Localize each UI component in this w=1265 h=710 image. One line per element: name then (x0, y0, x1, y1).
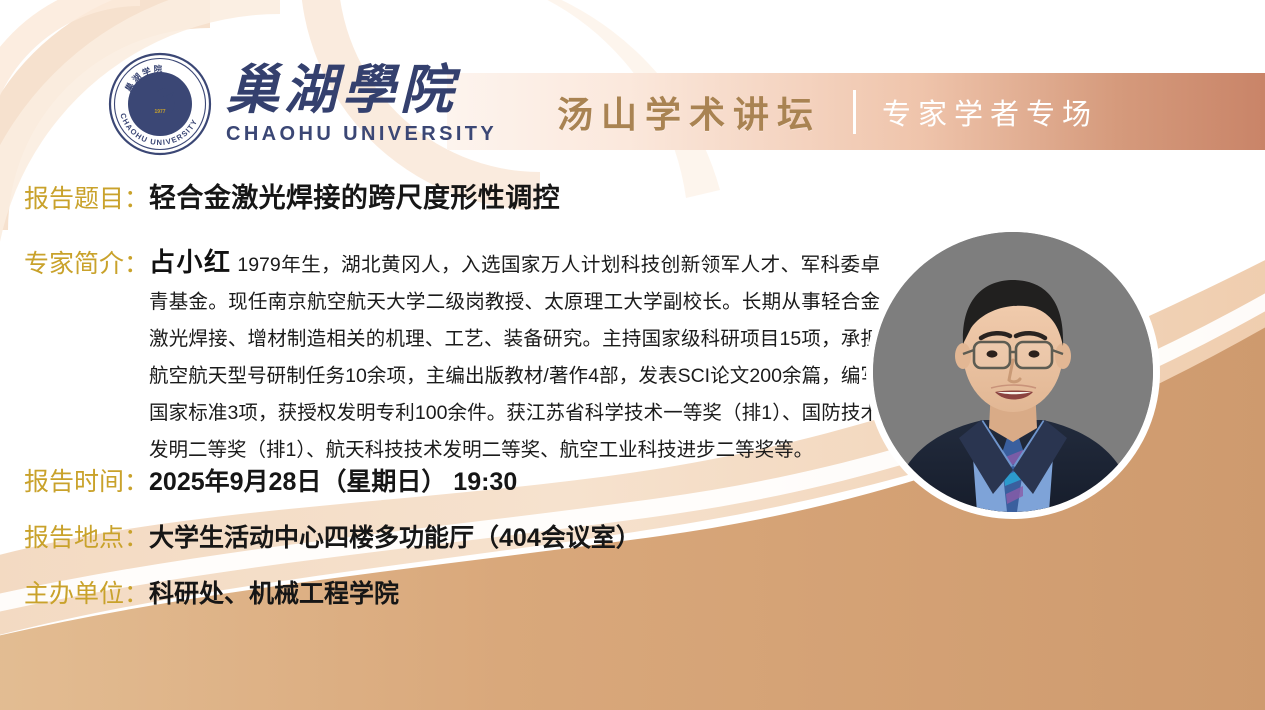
speaker-bio-label: 专家简介： (24, 244, 149, 280)
report-title-row: 报告题目： 轻合金激光焊接的跨尺度形性调控 (24, 176, 560, 215)
speaker-bio-row: 专家简介： 占小红 1979年生，湖北黄冈人，入选国家万人计划科技创新领军人才、… (24, 244, 880, 469)
university-logo: 1977 巢 湖 学 院 CHAOHU UNIVERSITY 巢湖學院 CHAO… (108, 52, 497, 156)
report-time-label: 报告时间： (24, 462, 149, 498)
report-host-value: 科研处、机械工程学院 (149, 574, 399, 610)
logo-name-cn: 巢湖學院 (226, 62, 458, 121)
speaker-portrait-photo (873, 232, 1153, 512)
logo-wordmark: 巢湖學院 CHAOHU UNIVERSITY (226, 62, 497, 145)
report-host-label: 主办单位： (24, 574, 149, 610)
speaker-bio-body: 占小红 1979年生，湖北黄冈人，入选国家万人计划科技创新领军人才、军科委卓青基… (149, 244, 880, 469)
event-banner: 汤山学术讲坛 专家学者专场 (447, 73, 1265, 150)
report-host-row: 主办单位： 科研处、机械工程学院 (24, 574, 399, 610)
report-time-value: 2025年9月28日（星期日） 19:30 (149, 462, 517, 498)
speaker-bio-text: 1979年生，湖北黄冈人，入选国家万人计划科技创新领军人才、军科委卓青基金。现任… (149, 254, 880, 461)
report-place-row: 报告地点： 大学生活动中心四楼多功能厅（404会议室） (24, 518, 641, 554)
banner-subtitle: 专家学者专场 (882, 91, 1098, 133)
report-place-value: 大学生活动中心四楼多功能厅（404会议室） (149, 518, 641, 554)
report-title-value: 轻合金激光焊接的跨尺度形性调控 (149, 176, 560, 215)
banner-divider (853, 90, 856, 134)
poster-header: 汤山学术讲坛 专家学者专场 1977 巢 湖 学 院 CHAOHU UNI (0, 0, 1265, 160)
report-time-row: 报告时间： 2025年9月28日（星期日） 19:30 (24, 462, 517, 498)
report-title-label: 报告题目： (24, 179, 149, 215)
speaker-bio-paragraph: 占小红 1979年生，湖北黄冈人，入选国家万人计划科技创新领军人才、军科委卓青基… (149, 244, 880, 469)
svg-text:1977: 1977 (154, 109, 165, 115)
report-place-label: 报告地点： (24, 518, 149, 554)
chaohu-university-seal-icon: 1977 巢 湖 学 院 CHAOHU UNIVERSITY (108, 52, 212, 156)
speaker-name: 占小红 (149, 247, 231, 277)
lecture-poster: 汤山学术讲坛 专家学者专场 1977 巢 湖 学 院 CHAOHU UNI (0, 0, 1265, 710)
logo-name-en: CHAOHU UNIVERSITY (226, 123, 497, 146)
banner-main-title: 汤山学术讲坛 (557, 86, 821, 138)
speaker-portrait (873, 232, 1153, 512)
